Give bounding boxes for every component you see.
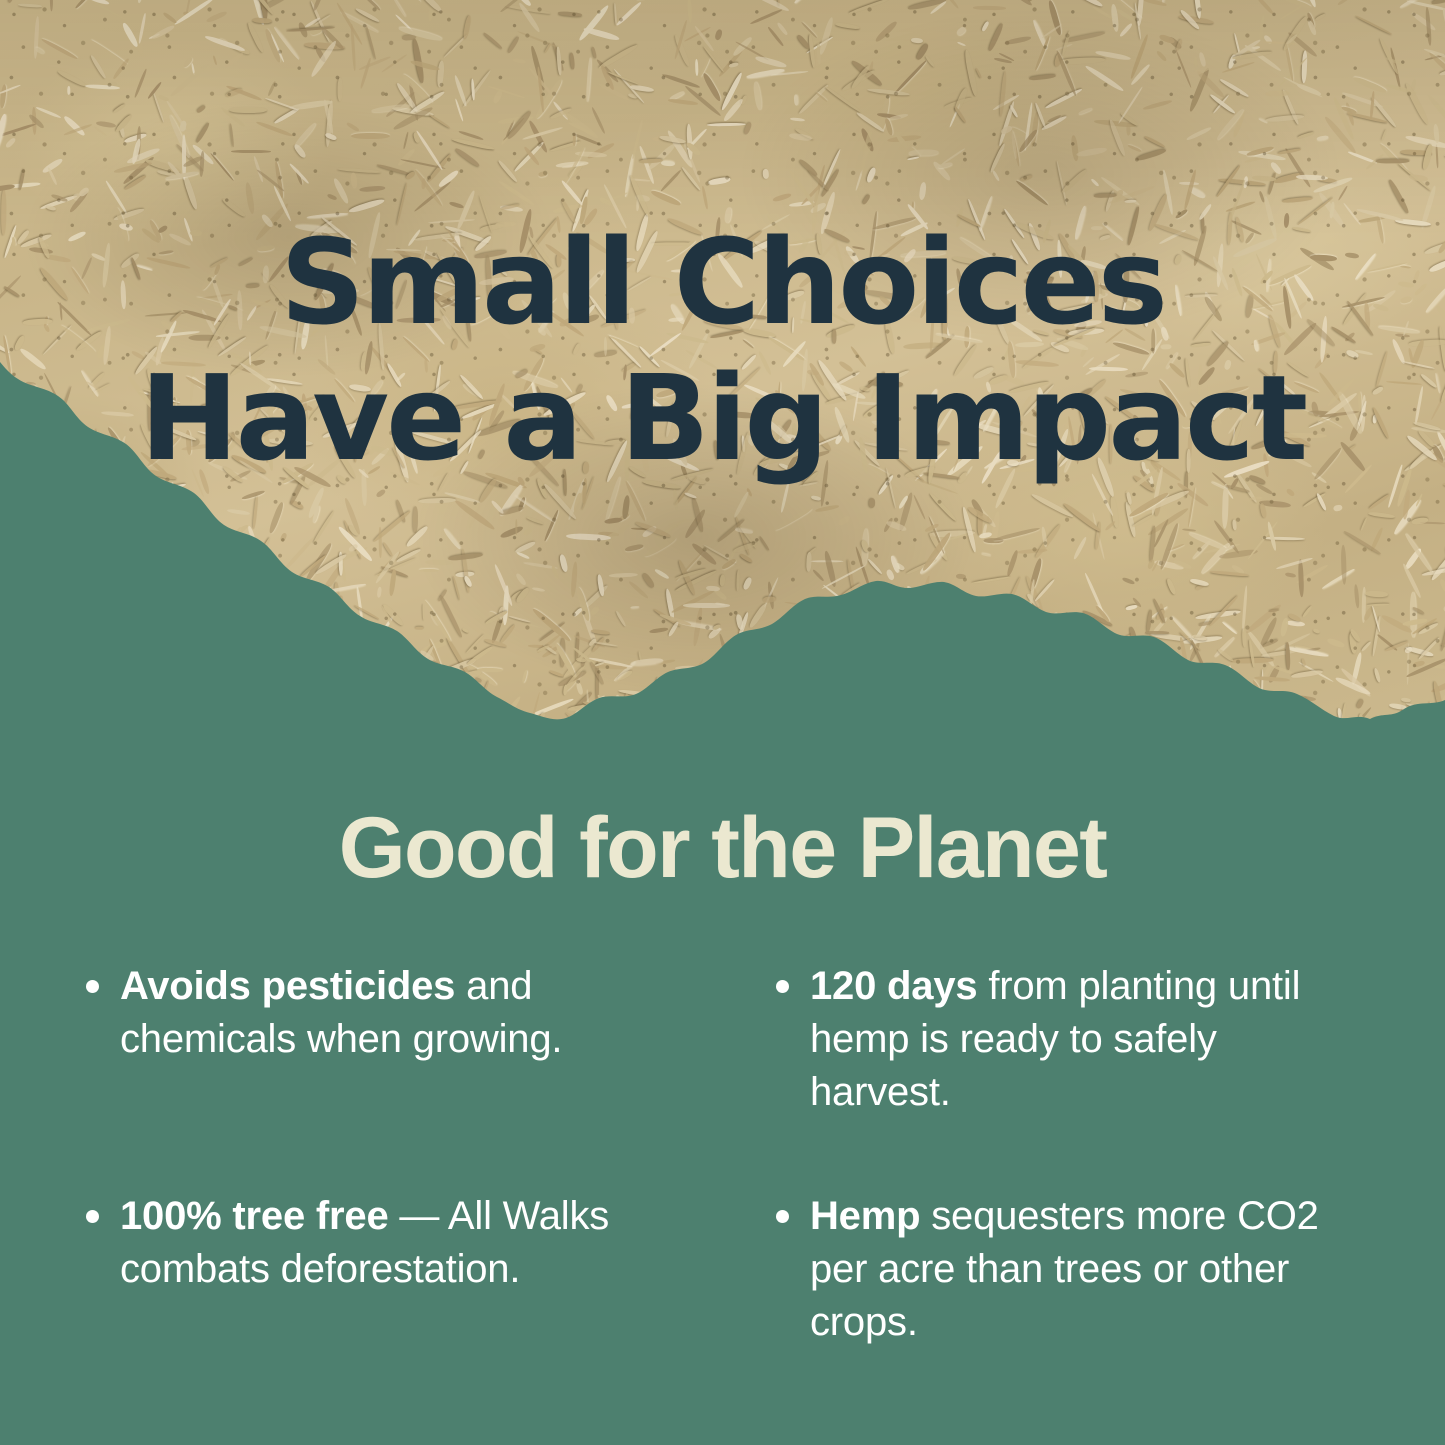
bullet-dot-icon bbox=[86, 1210, 99, 1223]
list-item: 120 days from planting until hemp is rea… bbox=[760, 960, 1320, 1119]
benefit-cell: 120 days from planting until hemp is rea… bbox=[760, 960, 1445, 1190]
page-headline: Small Choices Have a Big Impact bbox=[0, 214, 1445, 486]
benefit-cell: 100% tree free — All Walks combats defor… bbox=[70, 1190, 760, 1420]
list-item: Hemp sequesters more CO2 per acre than t… bbox=[760, 1190, 1320, 1349]
benefit-lead: 100% tree free bbox=[120, 1194, 389, 1238]
benefit-lead: 120 days bbox=[810, 964, 977, 1008]
benefit-cell: Avoids pesticides and chemicals when gro… bbox=[70, 960, 760, 1190]
bullet-dot-icon bbox=[86, 980, 99, 993]
benefit-cell: Hemp sequesters more CO2 per acre than t… bbox=[760, 1190, 1445, 1420]
infographic-canvas: Small Choices Have a Big Impact Good for… bbox=[0, 0, 1445, 1445]
benefits-list: Avoids pesticides and chemicals when gro… bbox=[0, 960, 1445, 1420]
headline-line-1: Small Choices bbox=[0, 214, 1445, 350]
list-item: Avoids pesticides and chemicals when gro… bbox=[70, 960, 630, 1066]
benefit-lead: Avoids pesticides bbox=[120, 964, 455, 1008]
benefit-lead: Hemp bbox=[810, 1194, 920, 1238]
section-subheading: Good for the Planet bbox=[0, 795, 1445, 901]
list-item: 100% tree free — All Walks combats defor… bbox=[70, 1190, 630, 1296]
bullet-dot-icon bbox=[776, 980, 789, 993]
bullet-dot-icon bbox=[776, 1210, 789, 1223]
headline-line-2: Have a Big Impact bbox=[0, 350, 1445, 486]
